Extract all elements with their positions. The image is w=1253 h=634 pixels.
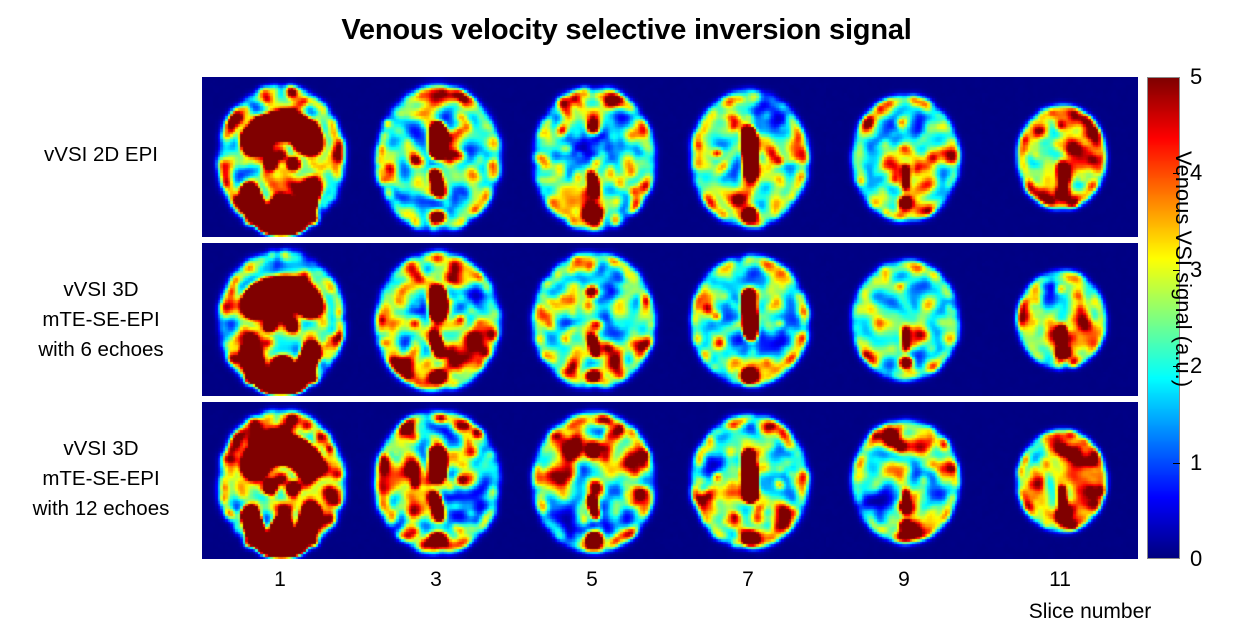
slice-tick-label: 1 <box>245 568 315 592</box>
colorbar-tick-label: 3 <box>1190 257 1230 283</box>
row-label-line: mTE-SE-EPI <box>8 464 194 494</box>
row-label-vvsi-3d-6-echoes: vVSI 3DmTE-SE-EPIwith 6 echoes <box>8 275 194 365</box>
slice-tick-label: 11 <box>1025 568 1095 592</box>
slice-tick-label: 5 <box>557 568 627 592</box>
row-label-line: with 12 echoes <box>8 494 194 524</box>
colorbar-tick-label: 1 <box>1190 450 1230 476</box>
colorbar-axis-label: Venous VSI signal (a.u.) <box>1170 151 1196 491</box>
colorbar-tick-label: 0 <box>1190 546 1230 572</box>
slice-tick-label: 9 <box>869 568 939 592</box>
x-axis-label: Slice number <box>980 600 1200 624</box>
brain-slice-row-vvsi-2d-epi <box>202 77 1138 237</box>
row-label-line: vVSI 3D <box>8 434 194 464</box>
row-label-line: vVSI 2D EPI <box>8 140 194 170</box>
brain-slice-row-vvsi-3d-12-echoes <box>202 402 1138 559</box>
row-label-vvsi-3d-12-echoes: vVSI 3DmTE-SE-EPIwith 12 echoes <box>8 434 194 524</box>
row-label-vvsi-2d-epi: vVSI 2D EPI <box>8 140 194 170</box>
colorbar-tick-label: 4 <box>1190 160 1230 186</box>
figure-root: Venous velocity selective inversion sign… <box>0 0 1253 634</box>
colorbar-tick-label: 5 <box>1190 64 1230 90</box>
colorbar-tick-label: 2 <box>1190 353 1230 379</box>
slice-tick-label: 3 <box>401 568 471 592</box>
row-label-line: vVSI 3D <box>8 275 194 305</box>
slice-tick-label: 7 <box>713 568 783 592</box>
row-label-line: mTE-SE-EPI <box>8 305 194 335</box>
page-title: Venous velocity selective inversion sign… <box>0 14 1253 47</box>
row-label-line: with 6 echoes <box>8 335 194 365</box>
brain-slice-row-vvsi-3d-6-echoes <box>202 243 1138 396</box>
